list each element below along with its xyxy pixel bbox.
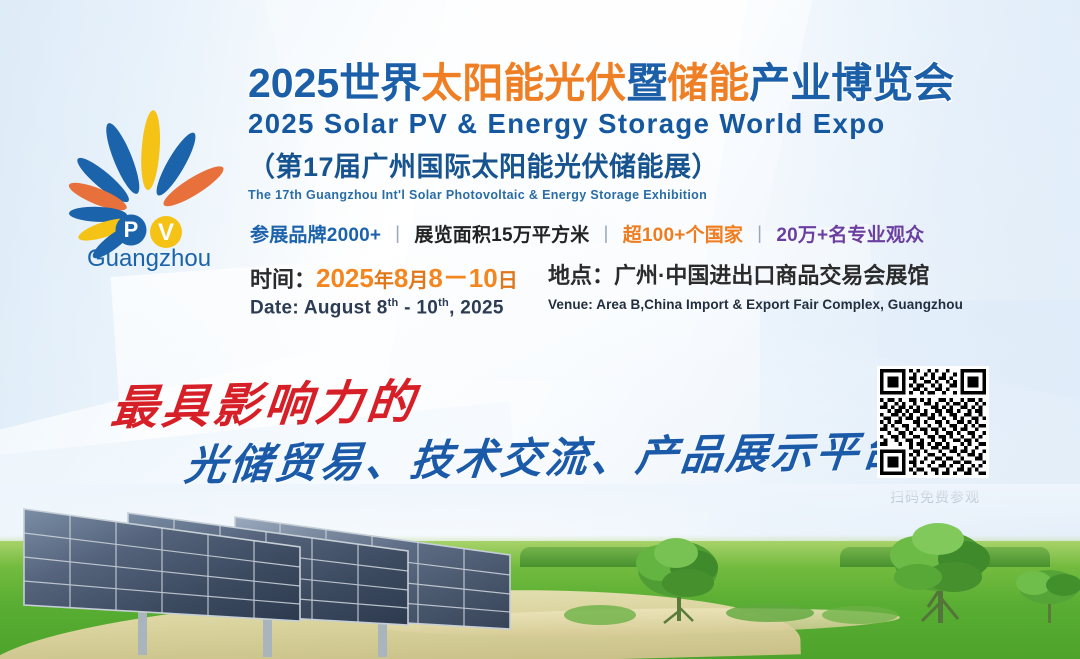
tree-1 xyxy=(636,538,718,623)
title-cn-part-1: 太阳能光伏 xyxy=(421,60,626,106)
venue-cn-line: 地点：广州·中国进出口商品交易会展馆 xyxy=(548,262,963,290)
date-en-sup2: th xyxy=(438,297,449,309)
title-cn-part-4: 产业博览会 xyxy=(749,60,954,106)
tree-3 xyxy=(1016,570,1080,623)
title-cn-part-2: 暨 xyxy=(626,60,667,106)
date-cn-line: 时间：2025年8月8－10日 xyxy=(250,262,518,295)
date-month: 8 xyxy=(394,263,408,293)
venue-label: 地点： xyxy=(548,263,614,288)
title-cn-part-3: 储能 xyxy=(667,60,749,106)
date-days: 8－10 xyxy=(428,263,497,293)
tree-2 xyxy=(890,523,990,623)
stat-separator-1: 丨 xyxy=(381,225,414,246)
venue-en-line: Venue: Area B,China Import & Export Fair… xyxy=(548,297,963,312)
stat-item-visitors: 20万+名专业观众 xyxy=(776,225,924,246)
venue-value: 广州·中国进出口商品交易会展馆 xyxy=(614,263,929,288)
date-block: 时间：2025年8月8－10日 Date: August 8th - 10th,… xyxy=(250,262,518,319)
date-year: 2025 xyxy=(316,263,374,293)
stat-separator-2: 丨 xyxy=(590,225,623,246)
title-en-sub: The 17th Guangzhou Int'l Solar Photovolt… xyxy=(248,188,1038,202)
date-month-unit: 月 xyxy=(408,270,428,292)
expo-poster: P V Guangzhou 2025世界太阳能光伏暨储能产业博览会 2025 S… xyxy=(0,0,1080,659)
date-year-unit: 年 xyxy=(374,270,394,292)
stat-item-area: 展览面积15万平方米 xyxy=(414,225,589,246)
title-en-main: 2025 Solar PV & Energy Storage World Exp… xyxy=(248,108,1038,140)
tree-group xyxy=(560,511,1080,641)
stats-bar: 参展品牌2000+丨展览面积15万平方米丨超100+个国家丨20万+名专业观众 xyxy=(250,220,924,247)
date-label: 时间： xyxy=(250,267,316,292)
date-en-prefix: Date: August 8 xyxy=(250,297,388,318)
title-cn-part-0: 2025世界 xyxy=(248,60,421,106)
slogan-line-1: 最具影响力的 xyxy=(108,363,422,438)
solar-panel-array xyxy=(10,489,530,659)
title-cn-sub: （第17届广州国际太阳能光伏储能展） xyxy=(248,145,1038,184)
pv-guangzhou-logo: P V Guangzhou xyxy=(46,98,251,273)
title-block: 2025世界太阳能光伏暨储能产业博览会 2025 Solar PV & Ener… xyxy=(248,62,1038,202)
date-en-mid: - 10 xyxy=(399,297,439,318)
stat-item-brands: 参展品牌2000+ xyxy=(250,225,381,246)
stat-item-countries: 超100+个国家 xyxy=(623,225,743,246)
date-en-suffix: , 2025 xyxy=(449,297,504,318)
title-cn-main: 2025世界太阳能光伏暨储能产业博览会 xyxy=(248,62,1038,105)
date-en-sup1: th xyxy=(388,297,399,309)
date-en-line: Date: August 8th - 10th, 2025 xyxy=(250,297,518,319)
stat-separator-3: 丨 xyxy=(743,225,776,246)
shrub-row xyxy=(564,604,898,625)
date-day-unit: 日 xyxy=(498,270,518,292)
qr-code[interactable] xyxy=(877,366,989,478)
venue-block: 地点：广州·中国进出口商品交易会展馆 Venue: Area B,China I… xyxy=(548,262,963,312)
svg-text:P: P xyxy=(124,217,139,242)
svg-text:V: V xyxy=(158,219,174,246)
svg-text:Guangzhou: Guangzhou xyxy=(87,245,211,272)
landscape-scene xyxy=(0,484,1080,659)
